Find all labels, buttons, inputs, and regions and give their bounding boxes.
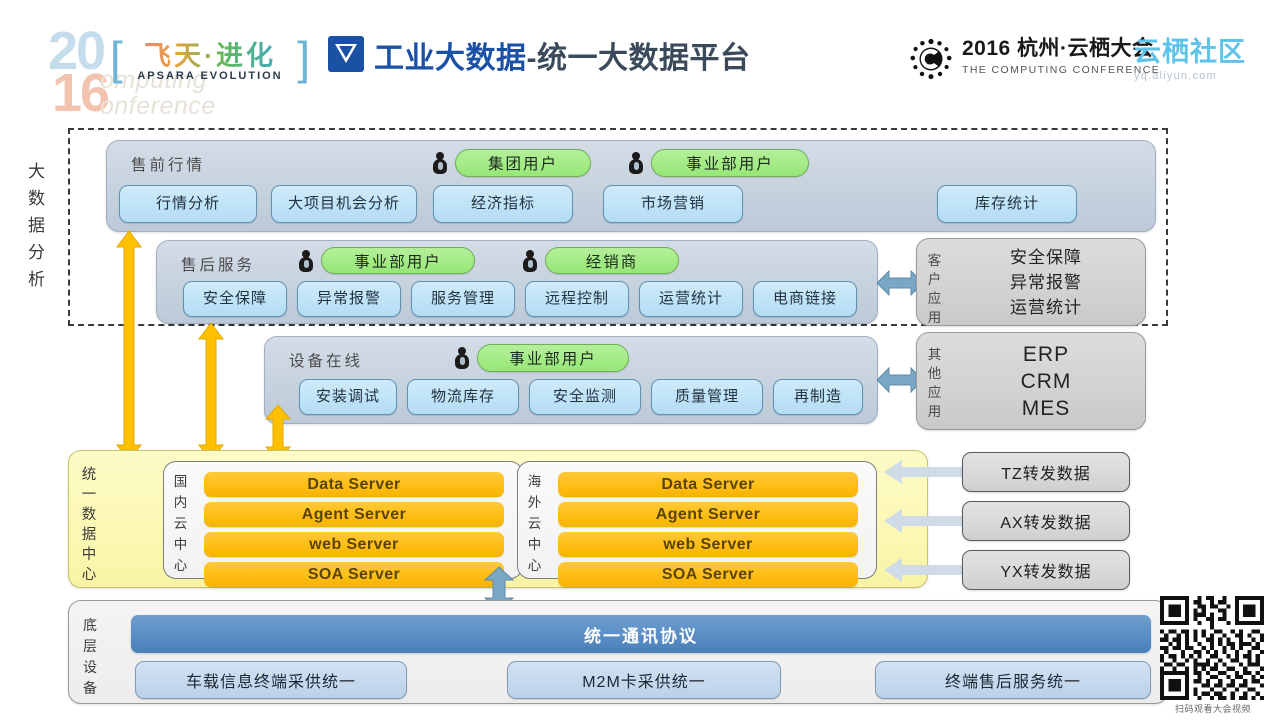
yunqi-brand-url: yq.aliyun.com	[1134, 70, 1246, 82]
chip-abnormal-alarm[interactable]: 异常报警	[297, 281, 401, 317]
apsara-title-en: APSARA EVOLUTION	[124, 70, 296, 82]
chip-operation-statistics[interactable]: 运营统计	[639, 281, 743, 317]
qr-code[interactable]	[1160, 596, 1264, 700]
overseas-cloud-label: 海外云中心	[526, 471, 543, 576]
user-pill-division: 事业部用户	[651, 149, 809, 177]
conference-name-cn: 2016 杭州·云栖大会	[962, 32, 1160, 62]
chip-big-project-opportunity[interactable]: 大项目机会分析	[271, 185, 417, 223]
chip-quality-management[interactable]: 质量管理	[651, 379, 763, 415]
customer-app-item: 运营统计	[1010, 295, 1082, 320]
chip-service-management[interactable]: 服务管理	[411, 281, 515, 317]
chip-inventory-statistics[interactable]: 库存统计	[937, 185, 1077, 223]
server-agent[interactable]: Agent Server	[204, 502, 504, 527]
forward-arrow-yx	[884, 556, 964, 584]
apsara-wordmark: [ ] 飞天·进化 APSARA EVOLUTION	[110, 30, 310, 88]
other-apps-list: ERP CRM MES	[951, 333, 1141, 429]
server-data[interactable]: Data Server	[204, 472, 504, 497]
chip-marketing[interactable]: 市场营销	[603, 185, 743, 223]
industrial-bigdata-logo-icon	[328, 36, 364, 72]
user-icon	[299, 250, 313, 272]
bottom-device-layer: 底层设备 统一通讯协议 车载信息终端采供统一 M2M卡采供统一 终端售后服务统一	[68, 600, 1168, 704]
forwarder-yx[interactable]: YX转发数据	[962, 550, 1130, 590]
apsara-title-cn: 飞天·进化	[130, 34, 290, 73]
domestic-cloud-center: 国内云中心 Data Server Agent Server web Serve…	[163, 461, 523, 579]
forwarder-tz[interactable]: TZ转发数据	[962, 452, 1130, 492]
other-app-item: MES	[1022, 395, 1071, 422]
conference-name-en: THE COMPUTING CONFERENCE	[962, 64, 1160, 76]
page-title: 工业大数据-统一大数据平台	[374, 33, 751, 77]
forward-arrow-ax	[884, 507, 964, 535]
bracket-left-icon: [	[110, 30, 123, 86]
page-title-sub: -统一大数据平台	[527, 42, 751, 75]
yunqi-community-brand: 云栖社区 yq.aliyun.com	[1134, 30, 1246, 82]
user-icon	[523, 250, 537, 272]
tile-m2m-card[interactable]: M2M卡采供统一	[507, 661, 781, 699]
page-title-main: 工业大数据	[374, 42, 527, 75]
conference-name: 2016 杭州·云栖大会 THE COMPUTING CONFERENCE	[962, 32, 1160, 76]
user-icon	[433, 152, 447, 174]
user-pill-group: 集团用户	[455, 149, 591, 177]
section-device-online: 设备在线 事业部用户 安装调试 物流库存 安全监测 质量管理 再制造	[264, 336, 878, 424]
yunqi-brand-cn: 云栖社区	[1134, 30, 1246, 69]
server-web[interactable]: web Server	[204, 532, 504, 557]
chip-installation-debugging[interactable]: 安装调试	[299, 379, 397, 415]
user-icon	[455, 347, 469, 369]
chip-economic-indicator[interactable]: 经济指标	[433, 185, 573, 223]
domestic-cloud-label: 国内云中心	[172, 471, 189, 576]
server-web[interactable]: web Server	[558, 532, 858, 557]
customer-app-item: 异常报警	[1010, 270, 1082, 295]
user-pill-dealer: 经销商	[545, 247, 679, 274]
chip-remanufacturing[interactable]: 再制造	[773, 379, 863, 415]
chip-safety-monitoring[interactable]: 安全监测	[529, 379, 641, 415]
page-header: 20 16 omputingonference [ ] 飞天·进化 APSARA…	[0, 0, 1280, 112]
section-presales-title: 售前行情	[131, 153, 205, 175]
forward-arrow-tz	[884, 458, 964, 486]
customer-apps-list: 安全保障 异常报警 运营统计	[951, 239, 1141, 325]
other-app-item: CRM	[1021, 368, 1072, 395]
customer-apps-label: 客户应用	[926, 251, 943, 327]
apsara-conference-logo: 20 16 omputingonference [ ] 飞天·进化 APSARA…	[48, 18, 308, 98]
section-aftersales-title: 售后服务	[181, 253, 255, 275]
chip-market-analysis[interactable]: 行情分析	[119, 185, 257, 223]
chip-remote-control[interactable]: 远程控制	[525, 281, 629, 317]
other-apps-panel: 其他应用 ERP CRM MES	[916, 332, 1146, 430]
data-center-label: 统一数据中心	[79, 465, 99, 585]
chip-logistics-inventory[interactable]: 物流库存	[407, 379, 519, 415]
user-pill-division: 事业部用户	[321, 247, 475, 274]
computing-conference-icon	[908, 36, 954, 82]
flow-arrow-presales-datacenter	[116, 230, 142, 462]
bracket-right-icon: ]	[297, 30, 310, 86]
chip-security-guarantee[interactable]: 安全保障	[183, 281, 287, 317]
unified-protocol-bar[interactable]: 统一通讯协议	[131, 615, 1151, 653]
tile-terminal-service[interactable]: 终端售后服务统一	[875, 661, 1151, 699]
customer-apps-panel: 客户应用 安全保障 异常报警 运营统计	[916, 238, 1146, 326]
overseas-cloud-center: 海外云中心 Data Server Agent Server web Serve…	[517, 461, 877, 579]
flow-arrow-aftersales-datacenter	[198, 322, 224, 462]
server-data[interactable]: Data Server	[558, 472, 858, 497]
bottom-layer-label: 底层设备	[81, 615, 99, 699]
server-soa[interactable]: SOA Server	[558, 562, 858, 587]
other-app-item: ERP	[1023, 341, 1069, 368]
chip-ecommerce-link[interactable]: 电商链接	[753, 281, 857, 317]
section-presales: 售前行情 集团用户 事业部用户 行情分析 大项目机会分析 经济指标 市场营销 库…	[106, 140, 1156, 232]
user-icon	[629, 152, 643, 174]
user-pill-division: 事业部用户	[477, 344, 629, 372]
bigdata-analysis-label: 大数据分析	[22, 158, 52, 293]
server-agent[interactable]: Agent Server	[558, 502, 858, 527]
forwarder-ax[interactable]: AX转发数据	[962, 501, 1130, 541]
qr-caption: 扫码观看大会视频	[1158, 702, 1268, 715]
customer-app-item: 安全保障	[1010, 245, 1082, 270]
tile-vehicle-terminal[interactable]: 车载信息终端采供统一	[135, 661, 407, 699]
server-soa[interactable]: SOA Server	[204, 562, 504, 587]
section-aftersales: 售后服务 事业部用户 经销商 安全保障 异常报警 服务管理 远程控制 运营统计 …	[156, 240, 878, 324]
other-apps-label: 其他应用	[926, 345, 943, 421]
section-device-online-title: 设备在线	[289, 349, 363, 371]
